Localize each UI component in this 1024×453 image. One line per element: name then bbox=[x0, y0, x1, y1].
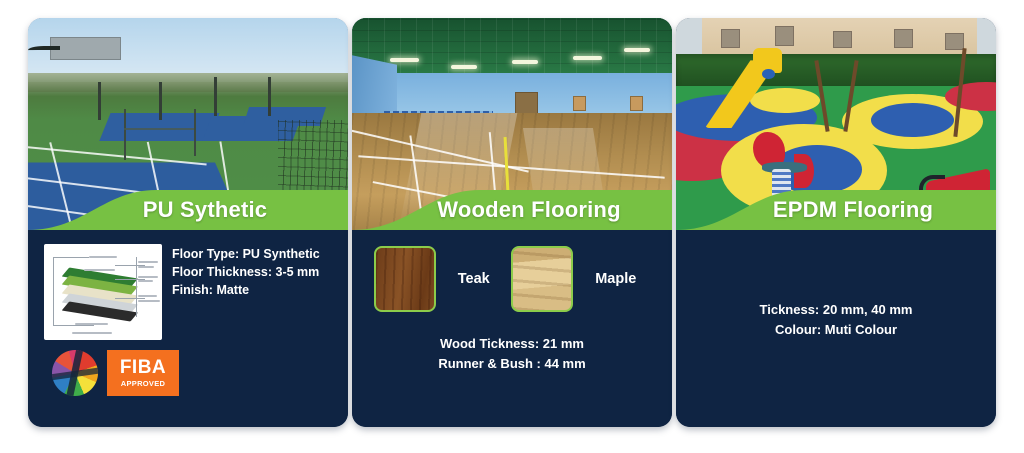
diagram-caption bbox=[75, 323, 108, 325]
pu-spec-list: Floor Type: PU Synthetic Floor Thickness… bbox=[172, 244, 320, 299]
light-pole bbox=[159, 82, 162, 120]
card-body-epdm: Tickness: 20 mm, 40 mm Colour: Muti Colo… bbox=[676, 230, 996, 427]
maple-label: Maple bbox=[579, 271, 652, 287]
light-pole bbox=[268, 77, 271, 115]
fiba-ball-icon bbox=[52, 350, 98, 396]
card-wooden-flooring[interactable]: Wooden Flooring Teak Maple Wood Tickness… bbox=[352, 18, 672, 427]
teak-label: Teak bbox=[442, 271, 505, 287]
leader-line bbox=[53, 257, 54, 324]
certification-logos: FIBA APPROVED bbox=[52, 350, 332, 396]
layer-cross-section-diagram bbox=[44, 244, 162, 340]
epdm-spec-list: Tickness: 20 mm, 40 mm Colour: Muti Colo… bbox=[692, 300, 980, 340]
teak-swatch[interactable] bbox=[374, 246, 436, 312]
card-pu-synthetic[interactable]: PU Sythetic bbox=[28, 18, 348, 427]
leader-line bbox=[53, 325, 93, 326]
wall-window bbox=[630, 96, 643, 111]
building-window bbox=[775, 26, 794, 45]
net-post bbox=[124, 109, 126, 160]
wood-spec-thickness: Wood Tickness: 21 mm bbox=[368, 334, 656, 354]
pu-detail-row: Floor Type: PU Synthetic Floor Thickness… bbox=[44, 244, 332, 340]
pu-spec-thickness: Floor Thickness: 3-5 mm bbox=[172, 264, 320, 282]
building-window bbox=[945, 33, 964, 50]
fiba-wordmark: FIBA bbox=[120, 358, 166, 377]
ceiling-light bbox=[512, 60, 538, 64]
building-window bbox=[721, 29, 740, 48]
net-post bbox=[194, 109, 196, 156]
epdm-spec-thickness: Tickness: 20 mm, 40 mm bbox=[692, 300, 980, 320]
ceiling-light bbox=[451, 65, 477, 69]
tennis-net bbox=[124, 128, 194, 130]
maple-swatch[interactable] bbox=[511, 246, 573, 312]
diagram-caption bbox=[89, 256, 117, 258]
building-window bbox=[894, 29, 913, 48]
diagram-caption bbox=[138, 266, 153, 268]
ceiling-light bbox=[573, 56, 602, 60]
leader-line bbox=[53, 257, 88, 258]
ceiling-grid bbox=[352, 18, 672, 75]
diagram-caption bbox=[138, 276, 158, 278]
leader-line bbox=[136, 257, 137, 317]
horizon-treeline bbox=[28, 73, 348, 92]
card-epdm-flooring[interactable]: EPDM Flooring Tickness: 20 mm, 40 mm Col… bbox=[676, 18, 996, 427]
fiba-approved-label: APPROVED bbox=[121, 380, 166, 388]
diagram-caption bbox=[84, 269, 115, 271]
diagram-caption bbox=[138, 295, 157, 297]
hedge-row bbox=[676, 54, 996, 88]
ceiling-light bbox=[624, 48, 650, 52]
leader-line bbox=[115, 298, 146, 299]
diagram-caption bbox=[138, 280, 152, 282]
diagram-caption bbox=[138, 261, 158, 263]
card-title-pu: PU Sythetic bbox=[28, 190, 348, 230]
card-title-wooden: Wooden Flooring bbox=[352, 190, 672, 230]
billboard bbox=[50, 37, 120, 60]
wooden-spec-list: Wood Tickness: 21 mm Runner & Bush : 44 … bbox=[368, 334, 656, 373]
leader-line bbox=[115, 279, 146, 280]
wood-swatch-row: Teak Maple bbox=[368, 244, 656, 312]
ceiling-light bbox=[390, 58, 419, 62]
diagram-caption bbox=[72, 332, 112, 334]
light-pole bbox=[98, 82, 101, 120]
light-pole bbox=[214, 77, 217, 115]
pu-spec-floor-type: Floor Type: PU Synthetic bbox=[172, 246, 320, 264]
card-banner-wooden: Wooden Flooring bbox=[352, 190, 672, 230]
card-body-wooden: Teak Maple Wood Tickness: 21 mm Runner &… bbox=[352, 230, 672, 427]
epdm-spec-colour: Colour: Muti Colour bbox=[692, 320, 980, 340]
epdm-blue-center bbox=[871, 103, 954, 137]
light-arm bbox=[28, 46, 60, 54]
pu-spec-finish: Finish: Matte bbox=[172, 282, 320, 300]
flooring-comparison-board: PU Sythetic bbox=[0, 0, 1024, 453]
card-banner-pu: PU Sythetic bbox=[28, 190, 348, 230]
card-body-pu: Floor Type: PU Synthetic Floor Thickness… bbox=[28, 230, 348, 427]
building-window bbox=[833, 31, 852, 48]
diagram-caption bbox=[138, 300, 159, 302]
card-title-epdm: EPDM Flooring bbox=[676, 190, 996, 230]
fiba-approved-icon: FIBA APPROVED bbox=[107, 350, 179, 396]
card-banner-epdm: EPDM Flooring bbox=[676, 190, 996, 230]
wall-window bbox=[573, 96, 586, 111]
wood-spec-runner-bush: Runner & Bush : 44 mm bbox=[368, 354, 656, 374]
